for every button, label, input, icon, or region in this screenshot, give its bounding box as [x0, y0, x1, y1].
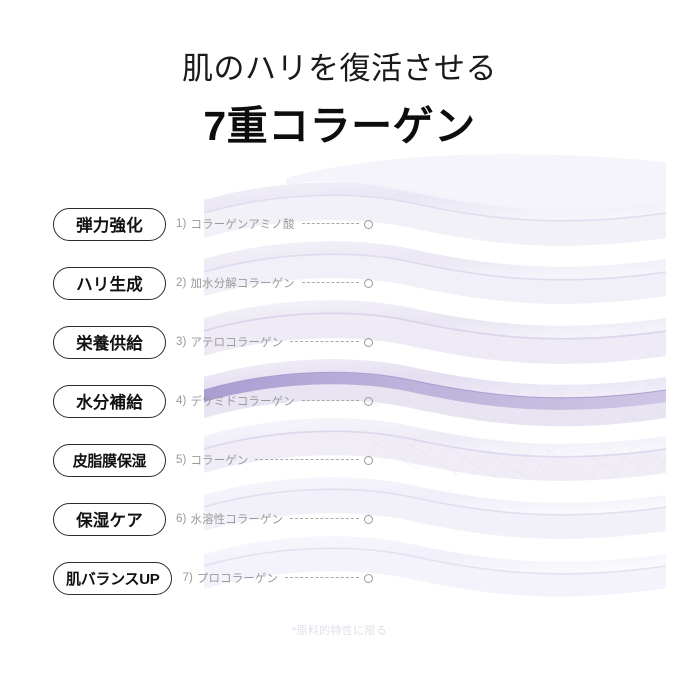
heading-block: 肌のハリを復活させる 7重コラーゲン: [0, 48, 679, 154]
circle-marker-icon-3: [364, 338, 373, 347]
ingredient-label-1: コラーゲンアミノ酸: [190, 216, 294, 232]
ingredient-label-3: アテロコラーゲン: [190, 334, 283, 350]
page-title: 7重コラーゲン: [0, 98, 679, 154]
circle-marker-icon-1: [364, 220, 373, 229]
layer-row-3: 栄養供給 3) アテロコラーゲン: [53, 325, 373, 359]
leader-dots-3: [290, 341, 359, 343]
benefit-badge-2[interactable]: ハリ生成: [53, 267, 166, 300]
leader-7: 7) プロコラーゲン: [182, 570, 373, 586]
ingredient-index-2: 2): [176, 277, 186, 289]
circle-marker-icon-2: [364, 279, 373, 288]
layer-row-2: ハリ生成 2) 加水分解コラーゲン: [53, 266, 373, 300]
layer-row-4: 水分補給 4) デサミドコラーゲン: [53, 384, 373, 418]
layer-row-5: 皮脂膜保湿 5) コラーゲン: [53, 443, 373, 477]
leader-dots-7: [285, 577, 359, 579]
circle-marker-icon-4: [364, 397, 373, 406]
benefit-badge-6[interactable]: 保湿ケア: [53, 503, 166, 536]
leader-3: 3) アテロコラーゲン: [176, 334, 373, 350]
subtitle-text: 肌のハリを復活させる: [0, 48, 679, 90]
layer-row-1: 弾力強化 1) コラーゲンアミノ酸: [53, 207, 373, 241]
ingredient-index-7: 7): [182, 572, 192, 584]
circle-marker-icon-7: [364, 574, 373, 583]
leader-1: 1) コラーゲンアミノ酸: [176, 216, 373, 232]
benefit-badge-1[interactable]: 弾力強化: [53, 208, 166, 241]
benefit-badge-3[interactable]: 栄養供給: [53, 326, 166, 359]
leader-4: 4) デサミドコラーゲン: [176, 393, 373, 409]
leader-dots-6: [290, 518, 359, 520]
ingredient-index-5: 5): [176, 454, 186, 466]
circle-marker-icon-6: [364, 515, 373, 524]
product-infographic-page: 肌のハリを復活させる 7重コラーゲン 弾力強化 1) コラーゲンアミノ酸 ハリ生…: [0, 0, 679, 679]
ingredient-index-4: 4): [176, 395, 186, 407]
ingredient-index-1: 1): [176, 218, 186, 230]
ingredient-label-5: コラーゲン: [190, 452, 248, 468]
ingredient-index-6: 6): [176, 513, 186, 525]
layer-row-7: 肌バランスUP 7) プロコラーゲン: [53, 561, 373, 595]
leader-dots-1: [302, 223, 359, 225]
layer-row-6: 保湿ケア 6) 水溶性コラーゲン: [53, 502, 373, 536]
leader-6: 6) 水溶性コラーゲン: [176, 511, 373, 527]
leader-dots-4: [302, 400, 359, 402]
leader-2: 2) 加水分解コラーゲン: [176, 275, 373, 291]
benefit-badge-7[interactable]: 肌バランスUP: [53, 562, 172, 595]
circle-marker-icon-5: [364, 456, 373, 465]
ingredient-label-6: 水溶性コラーゲン: [190, 511, 283, 527]
leader-dots-2: [302, 282, 359, 284]
leader-dots-5: [255, 459, 359, 461]
leader-5: 5) コラーゲン: [176, 452, 373, 468]
ingredient-label-7: プロコラーゲン: [197, 570, 278, 586]
benefit-badge-4[interactable]: 水分補給: [53, 385, 166, 418]
ingredient-index-3: 3): [176, 336, 186, 348]
footnote-text: *原料的特性に限る: [0, 622, 679, 638]
benefit-badge-5[interactable]: 皮脂膜保湿: [53, 444, 166, 477]
ingredient-label-4: デサミドコラーゲン: [190, 393, 294, 409]
ingredient-label-2: 加水分解コラーゲン: [190, 275, 294, 291]
